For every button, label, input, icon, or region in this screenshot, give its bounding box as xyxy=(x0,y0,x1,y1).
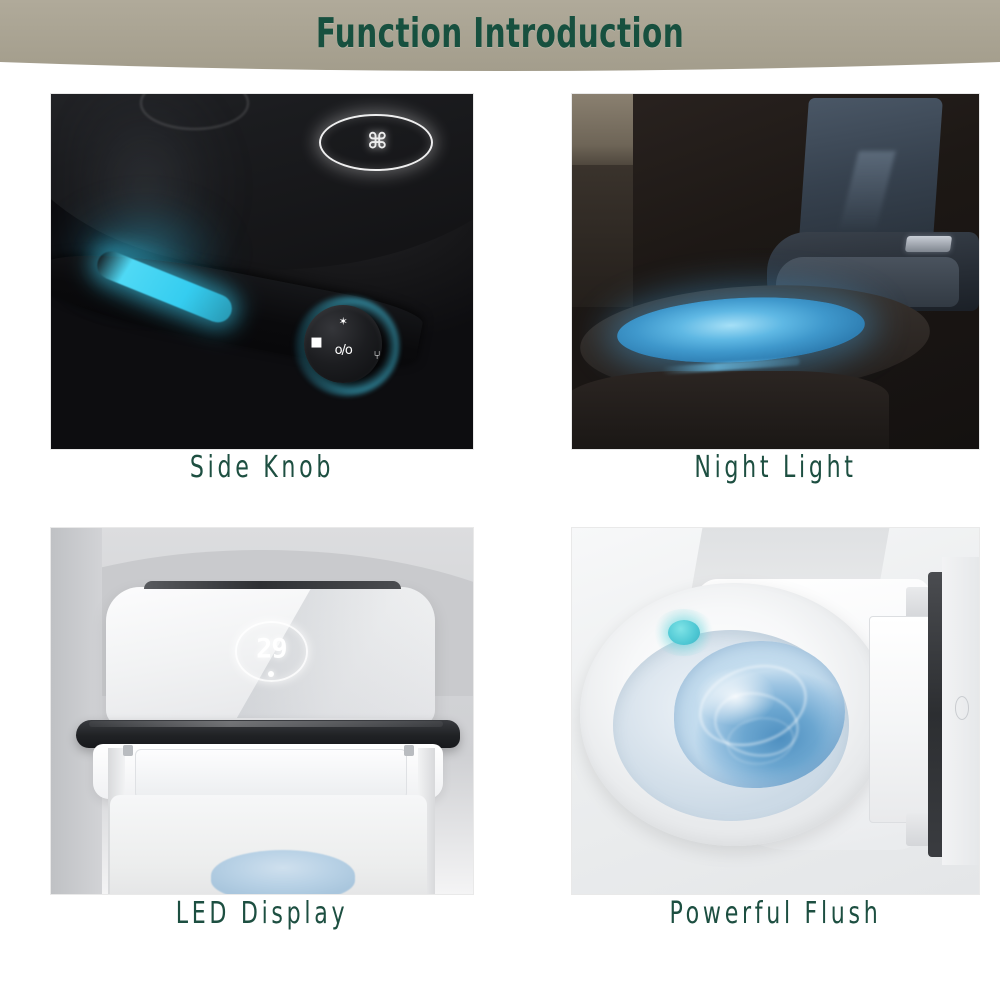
lid-dark-edge xyxy=(144,581,401,589)
logo-glyph: ⌘ xyxy=(367,130,384,155)
side-control-panel[interactable] xyxy=(905,236,952,252)
feature-card-side-knob: ⌘ ✶ ■ o/o ⑂ xyxy=(50,93,474,450)
feature-card-led-display: 29 xyxy=(50,527,474,895)
led-display-ring: 29 xyxy=(235,621,309,682)
sensor-indicator-icon xyxy=(668,620,701,646)
toilet-front-body xyxy=(571,371,889,450)
seat-hinge-block xyxy=(869,616,936,823)
photo-side-knob: ⌘ ✶ ■ o/o ⑂ xyxy=(50,93,474,450)
caption-led-display: LED Display xyxy=(88,896,436,931)
caption-powerful-flush: Powerful Flush xyxy=(608,896,943,931)
photo-night-light xyxy=(571,93,980,450)
led-indicator-dot xyxy=(268,671,274,677)
bluetooth-icon: ✶ xyxy=(339,316,348,327)
hinge-right-icon xyxy=(404,745,414,757)
photo-powerful-flush xyxy=(571,527,980,895)
seat-band-highlight xyxy=(89,721,443,727)
led-display-value: 29 xyxy=(256,634,287,665)
hinge-bottom xyxy=(906,813,930,846)
page-title: Function Introduction xyxy=(100,0,900,66)
seat-user-icon: ■ xyxy=(310,336,322,349)
hinge-top xyxy=(906,587,930,620)
header-banner: Function Introduction xyxy=(0,0,1000,74)
bowl-water xyxy=(211,850,354,895)
background-left-shade xyxy=(51,528,102,894)
photo-led-display: 29 xyxy=(50,527,474,895)
caption-night-light: Night Light xyxy=(608,450,943,485)
feature-card-powerful-flush xyxy=(571,527,980,895)
feature-card-night-light xyxy=(571,93,980,450)
side-knob-control[interactable]: ✶ ■ o/o ⑂ xyxy=(304,305,382,383)
seat-inner-panel xyxy=(135,749,407,799)
hinge-left-icon xyxy=(123,745,133,757)
rotate-icon: o/o xyxy=(335,344,352,357)
spray-icon: ⑂ xyxy=(374,349,381,361)
side-marking-icon xyxy=(955,696,969,720)
panel-grid: ⌘ ✶ ■ o/o ⑂ Side Knob xyxy=(0,74,1000,1000)
logo-badge-icon: ⌘ xyxy=(319,114,433,171)
caption-side-knob: Side Knob xyxy=(88,450,436,485)
